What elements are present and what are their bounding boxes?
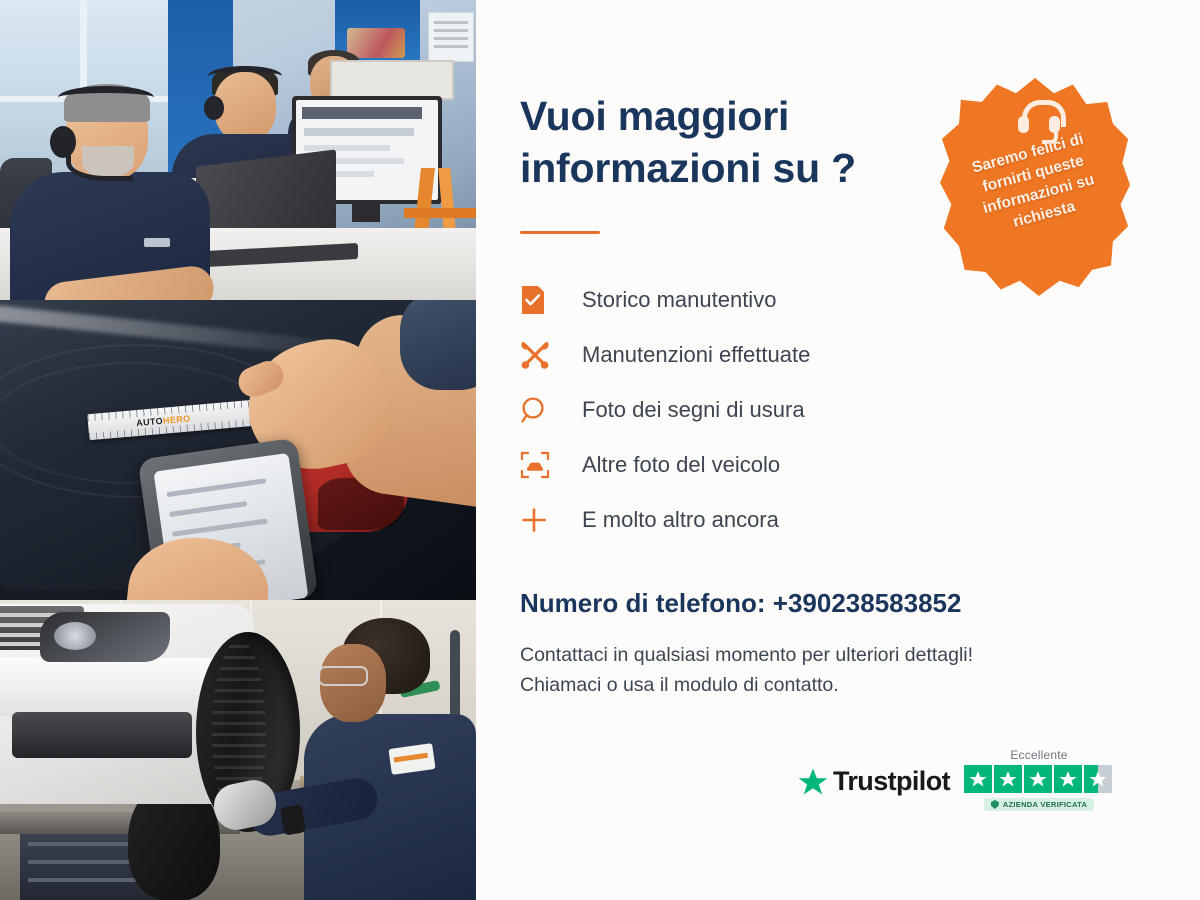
- feature-label: Foto dei segni di usura: [582, 397, 805, 423]
- content-panel: Vuoi maggiori informazioni su ? Saremo f…: [476, 0, 1200, 900]
- feature-label: Storico manutentivo: [582, 287, 776, 313]
- autohero-ruler-inspection-photo: AUTOHERO: [0, 300, 476, 600]
- headset-icon: [1018, 100, 1060, 140]
- trustpilot-logo: Trustpilot: [798, 766, 950, 797]
- trustpilot-widget[interactable]: Trustpilot Eccellente: [798, 748, 1114, 811]
- verified-label: AZIENDA VERIFICATA: [1003, 800, 1087, 809]
- inspector-sleeve: [400, 300, 476, 390]
- promo-banner: AUTOHERO: [0, 0, 1200, 900]
- rating-star-3: [1024, 765, 1052, 793]
- feature-list: Storico manutentivo Manutenzi: [520, 272, 950, 547]
- feature-item-altre-foto: Altre foto del veicolo: [520, 437, 950, 492]
- rating-caption: Eccellente: [1010, 748, 1067, 762]
- rating-stars: [964, 765, 1114, 793]
- rating-star-5-half: [1084, 765, 1112, 793]
- feature-label: Manutenzioni effettuate: [582, 342, 810, 368]
- wall-notice: [428, 12, 474, 62]
- agent-foreground-photo: [10, 88, 210, 300]
- magnifier-icon: [520, 395, 560, 425]
- second-monitor: [330, 60, 454, 100]
- title-underline-rule: [520, 231, 600, 234]
- lower-grille: [12, 712, 192, 758]
- feature-item-storico: Storico manutentivo: [520, 272, 950, 327]
- car-scan-frame-icon: [520, 450, 560, 480]
- feature-label: Altre foto del veicolo: [582, 452, 780, 478]
- trustpilot-star-icon: [798, 767, 828, 797]
- feature-item-foto-usura: Foto dei segni di usura: [520, 382, 950, 437]
- checklist-document-icon: [520, 285, 560, 315]
- headlight: [40, 612, 170, 662]
- feature-item-manutenzioni: Manutenzioni effettuate: [520, 327, 950, 382]
- front-bumper: [0, 658, 220, 716]
- rating-star-1: [964, 765, 992, 793]
- trustpilot-rating: Eccellente: [964, 748, 1114, 811]
- feature-label: E molto altro ancora: [582, 507, 779, 533]
- contact-line-1: Contattaci in qualsiasi momento per ulte…: [520, 640, 973, 670]
- plus-icon: [520, 506, 560, 534]
- verified-company-badge: AZIENDA VERIFICATA: [984, 798, 1094, 811]
- contact-line-2: Chiamaci o usa il modulo di contatto.: [520, 670, 973, 700]
- call-center-agents-photo: [0, 0, 476, 300]
- photo-column: AUTOHERO: [0, 0, 476, 900]
- request-info-badge: Saremo felici di fornirti queste informa…: [940, 78, 1130, 296]
- page-title: Vuoi maggiori informazioni su ?: [520, 90, 950, 195]
- contact-instructions: Contattaci in qualsiasi momento per ulte…: [520, 640, 973, 700]
- crossed-tools-icon: [520, 340, 560, 370]
- phone-number-label: Numero di telefono: +390238583852: [520, 588, 961, 619]
- shield-icon: [991, 800, 999, 809]
- mechanic-wheel-photo: [0, 600, 476, 900]
- feature-item-altro: E molto altro ancora: [520, 492, 950, 547]
- rating-star-2: [994, 765, 1022, 793]
- trustpilot-wordmark: Trustpilot: [833, 766, 950, 797]
- mechanic-person: [300, 618, 476, 900]
- rating-star-4: [1054, 765, 1082, 793]
